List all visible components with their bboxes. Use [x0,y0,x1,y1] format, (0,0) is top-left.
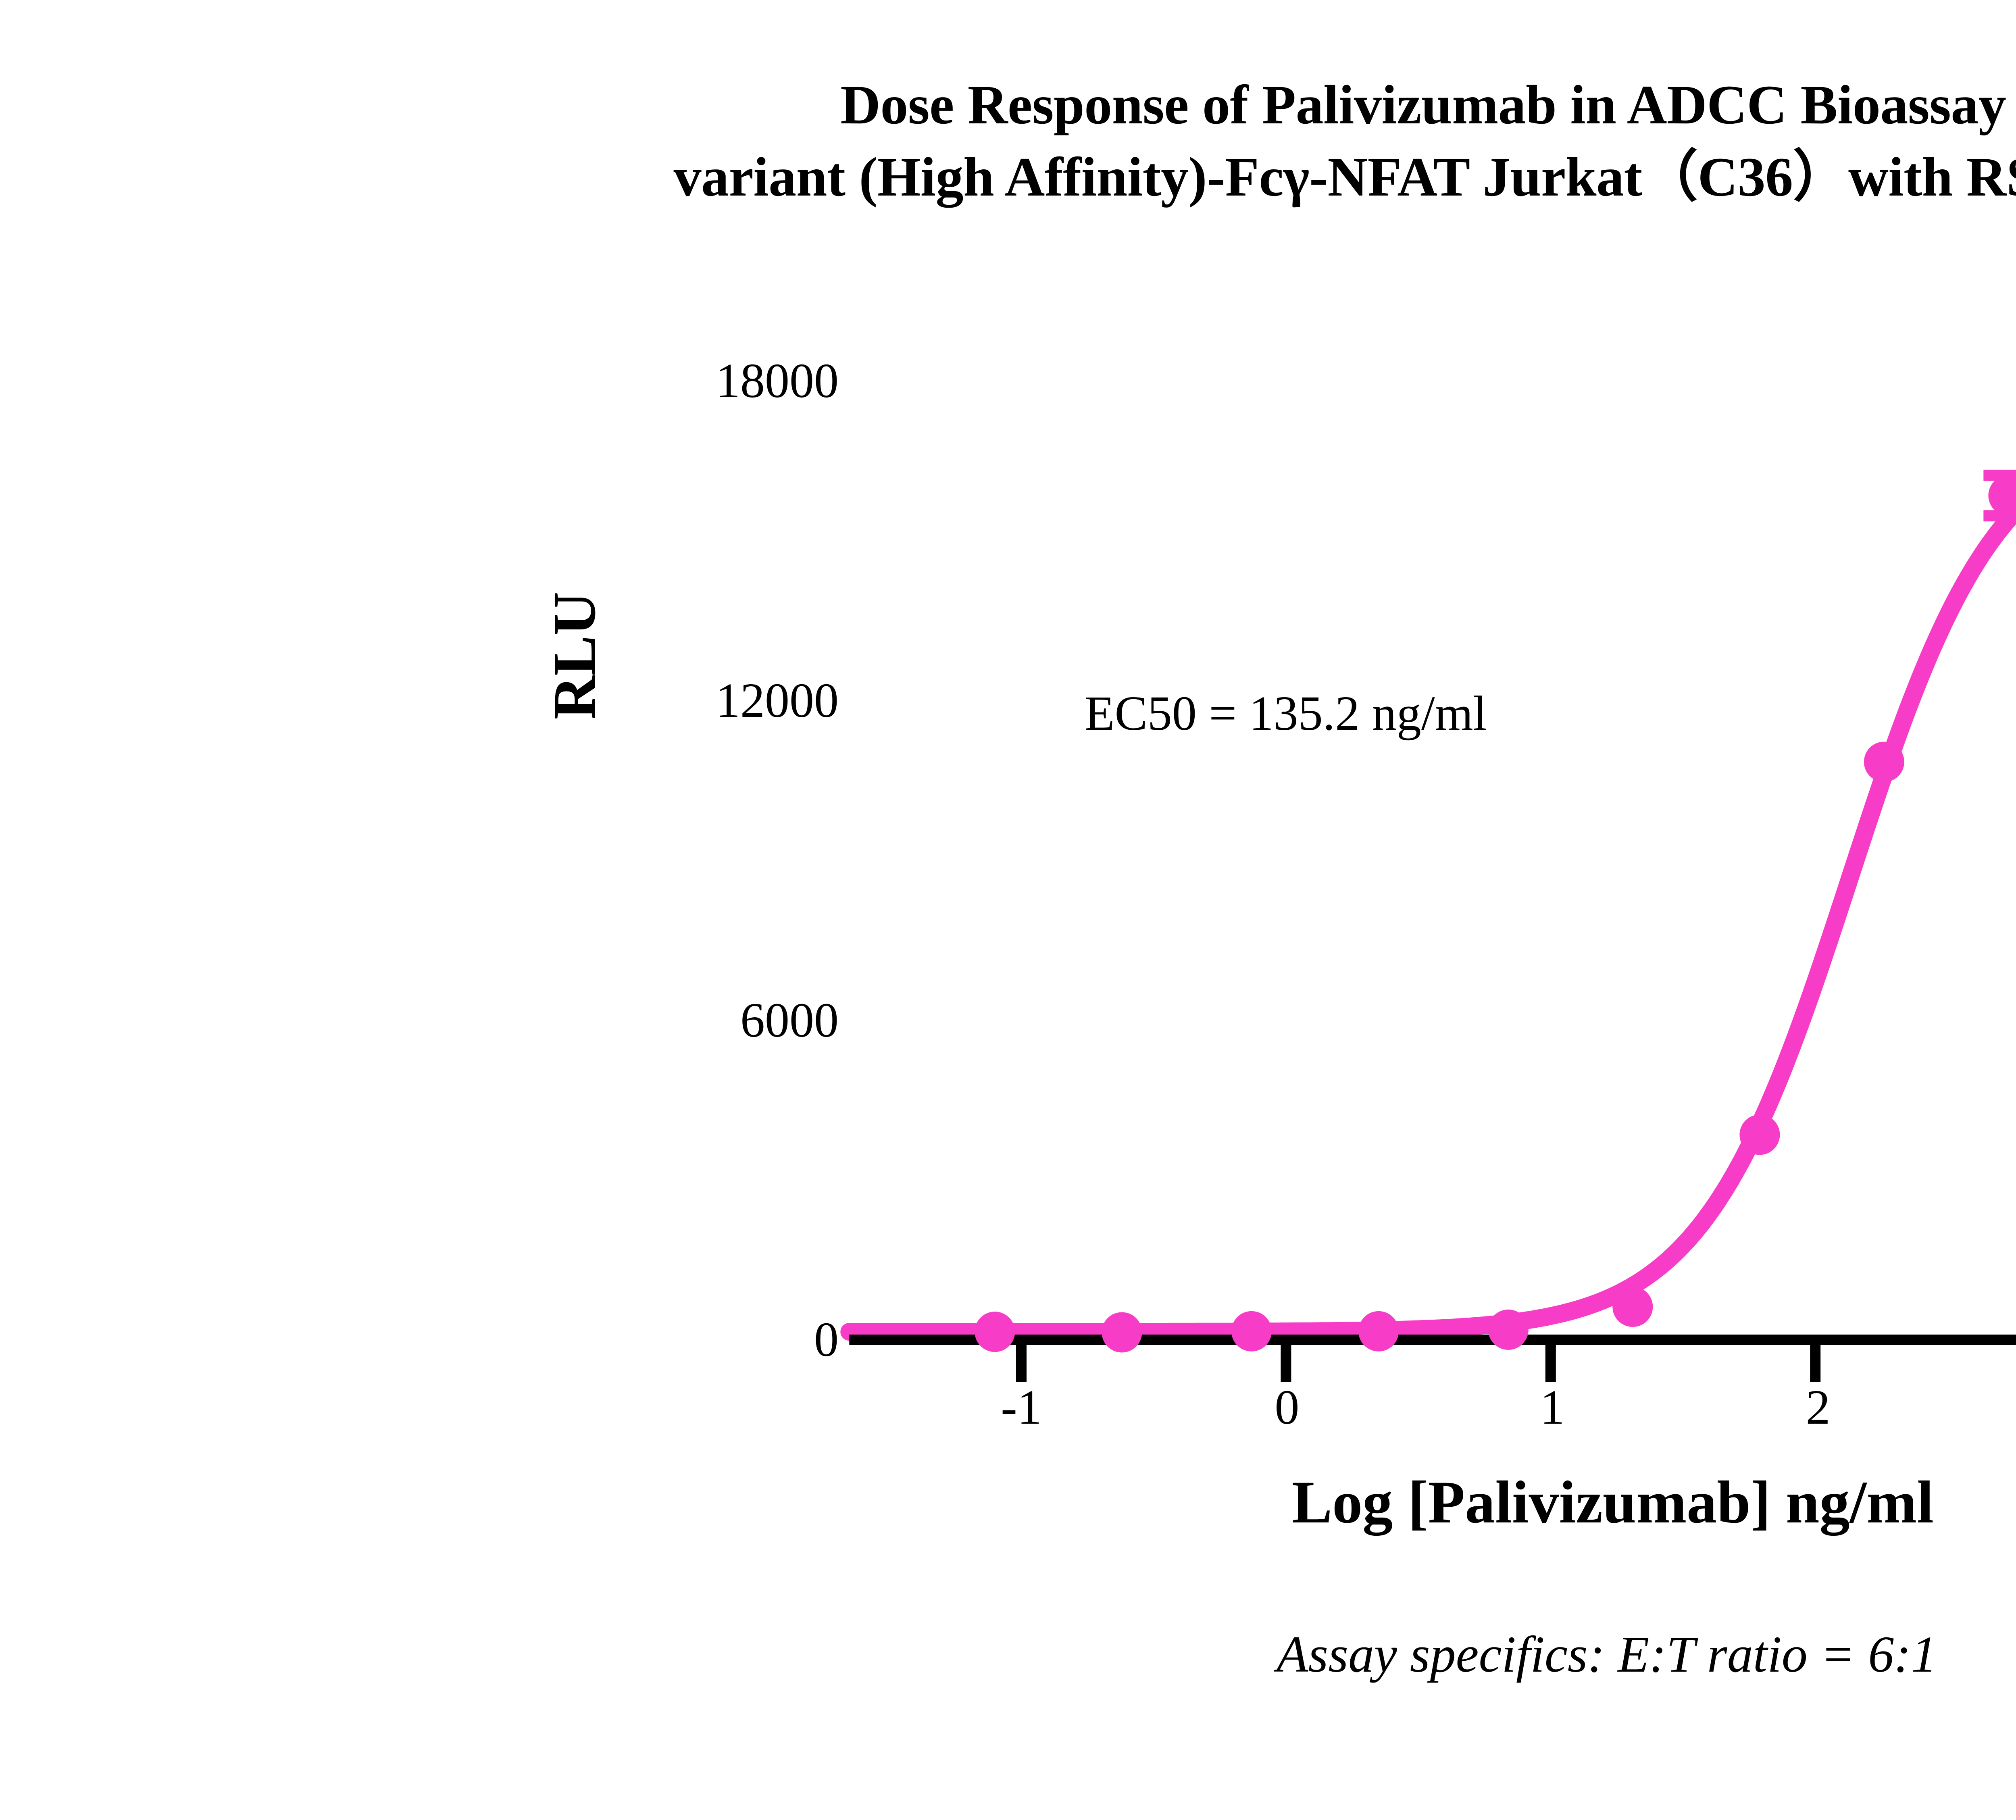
data-point [1612,1287,1653,1327]
data-point [1739,1114,1780,1155]
data-point [1358,1311,1399,1351]
x-axis-label: Log [Palivizumab] ng/ml [863,1468,2016,1537]
y-tick-label-0: 0 [540,1315,839,1364]
y-tick-label-12000: 12000 [540,676,839,725]
figure-root: Dose Response of Palivizumab in ADCC Bio… [0,0,2016,1820]
data-point [975,1312,1015,1352]
fit-curve [849,425,2016,1332]
data-point [1864,742,1904,782]
x-tick-label-0: 0 [1235,1383,1339,1432]
plot-area: RLU Log [Palivizumab] ng/ml 0 6000 12000… [0,0,2016,1820]
y-tick-label-18000: 18000 [540,356,839,406]
assay-caption: Assay specifics: E:T ratio = 6:1 [0,1625,2016,1684]
x-tick-label-1: 1 [1500,1383,1605,1432]
data-point [1488,1310,1529,1350]
x-tick-label-2: 2 [1766,1383,1870,1432]
data-point [1102,1312,1142,1353]
ec50-annotation: EC50 = 135.2 ng/ml [1085,685,1487,742]
data-point [1231,1311,1272,1351]
x-tick-label-minus1: -1 [969,1383,1074,1432]
y-tick-label-6000: 6000 [540,996,839,1045]
plot-canvas [0,0,2016,1820]
data-point [1988,475,2016,516]
